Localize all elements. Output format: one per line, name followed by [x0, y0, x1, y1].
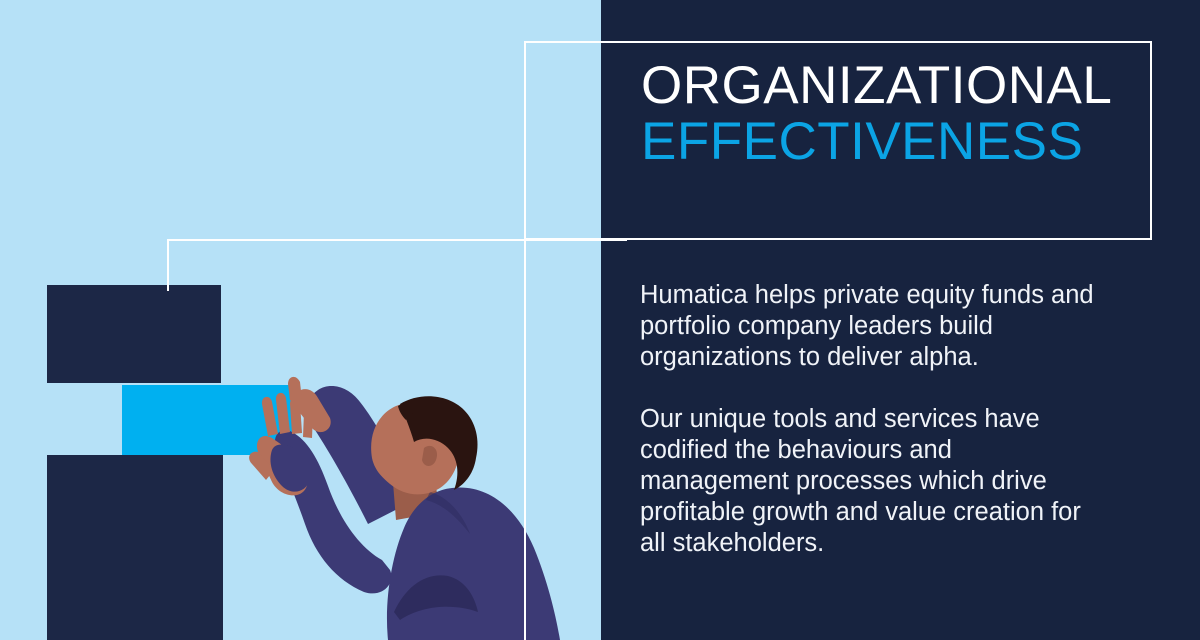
- vertical-divider-line: [524, 239, 526, 640]
- person-figure-illustration: [0, 0, 601, 640]
- body-paragraph-1: Humatica helps private equity funds and …: [640, 280, 1100, 373]
- slide-root: ORGANIZATIONAL EFFECTIVENESS Humatica he…: [0, 0, 1200, 640]
- figure-far-thumb: [288, 377, 302, 400]
- body-paragraph-2: Our unique tools and services have codif…: [640, 404, 1100, 559]
- title-line-accent: EFFECTIVENESS: [641, 114, 1141, 170]
- body-copy: Humatica helps private equity funds and …: [640, 280, 1100, 559]
- page-title: ORGANIZATIONAL EFFECTIVENESS: [641, 58, 1141, 170]
- title-line-primary: ORGANIZATIONAL: [641, 58, 1141, 114]
- illustration-panel: [0, 0, 601, 640]
